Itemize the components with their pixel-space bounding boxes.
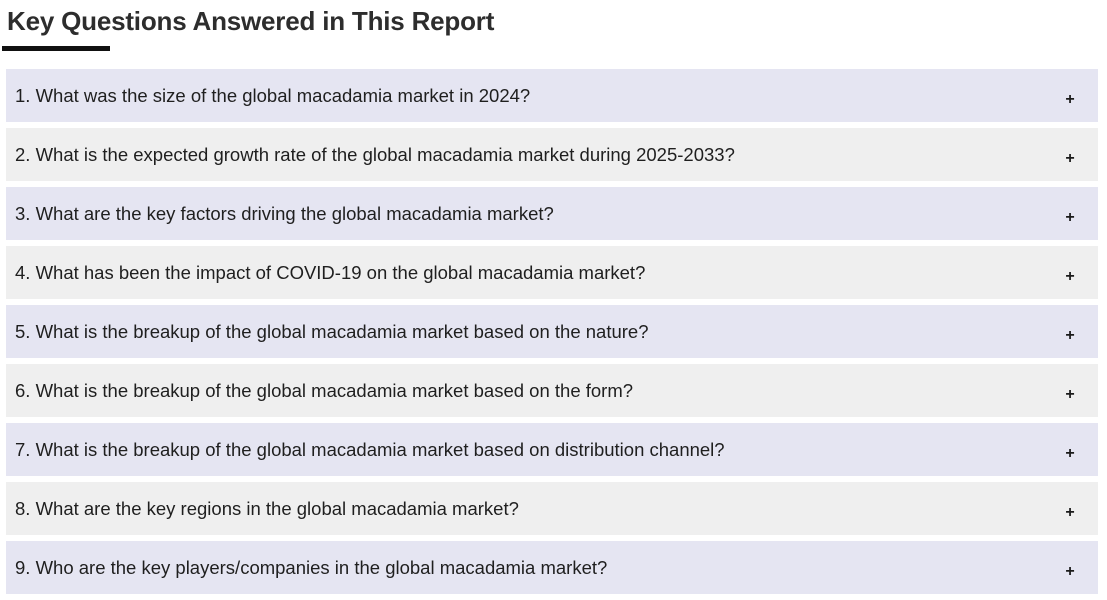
faq-row-4[interactable]: 4. What has been the impact of COVID-19 … [6, 246, 1098, 299]
plus-icon[interactable]: + [1042, 328, 1098, 344]
faq-row-8[interactable]: 8. What are the key regions in the globa… [6, 482, 1098, 535]
faq-accordion-list: 1. What was the size of the global macad… [6, 69, 1098, 600]
faq-row-2[interactable]: 2. What is the expected growth rate of t… [6, 128, 1098, 181]
faq-row-6[interactable]: 6. What is the breakup of the global mac… [6, 364, 1098, 417]
faq-row-3[interactable]: 3. What are the key factors driving the … [6, 187, 1098, 240]
faq-question-2: 2. What is the expected growth rate of t… [15, 143, 1042, 167]
title-underline-bar [2, 46, 110, 51]
faq-question-6: 6. What is the breakup of the global mac… [15, 379, 1042, 403]
faq-question-1: 1. What was the size of the global macad… [15, 84, 1042, 108]
faq-row-9[interactable]: 9. Who are the key players/companies in … [6, 541, 1098, 594]
plus-icon[interactable]: + [1042, 505, 1098, 521]
faq-question-9: 9. Who are the key players/companies in … [15, 556, 1042, 580]
plus-icon[interactable]: + [1042, 151, 1098, 167]
page-title: Key Questions Answered in This Report [7, 5, 494, 37]
plus-icon[interactable]: + [1042, 564, 1098, 580]
plus-icon[interactable]: + [1042, 446, 1098, 462]
plus-icon[interactable]: + [1042, 269, 1098, 285]
faq-row-5[interactable]: 5. What is the breakup of the global mac… [6, 305, 1098, 358]
plus-icon[interactable]: + [1042, 92, 1098, 108]
faq-question-3: 3. What are the key factors driving the … [15, 202, 1042, 226]
page-header: Key Questions Answered in This Report [0, 0, 1107, 60]
faq-question-5: 5. What is the breakup of the global mac… [15, 320, 1042, 344]
faq-row-1[interactable]: 1. What was the size of the global macad… [6, 69, 1098, 122]
plus-icon[interactable]: + [1042, 210, 1098, 226]
plus-icon[interactable]: + [1042, 387, 1098, 403]
faq-page: Key Questions Answered in This Report 1.… [0, 0, 1107, 600]
faq-question-4: 4. What has been the impact of COVID-19 … [15, 261, 1042, 285]
faq-question-8: 8. What are the key regions in the globa… [15, 497, 1042, 521]
faq-row-7[interactable]: 7. What is the breakup of the global mac… [6, 423, 1098, 476]
faq-question-7: 7. What is the breakup of the global mac… [15, 438, 1042, 462]
